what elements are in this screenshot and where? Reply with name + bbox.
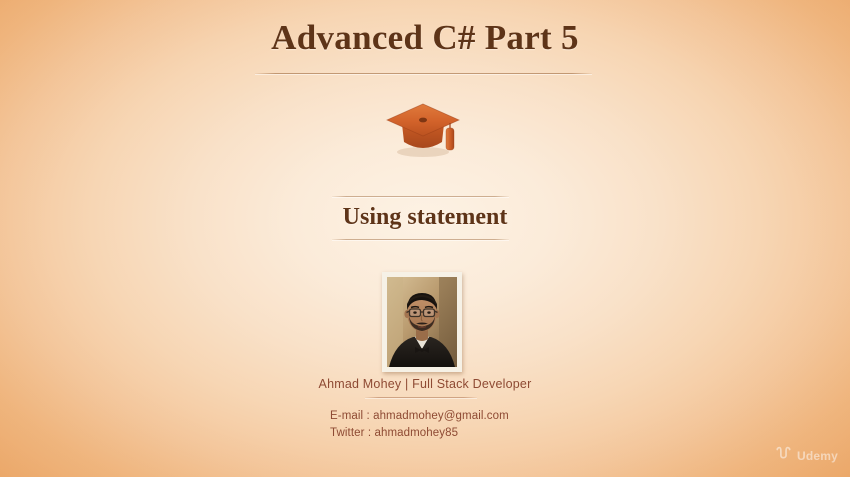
instructor-name-divider — [365, 397, 477, 398]
subtitle: Using statement — [0, 204, 850, 231]
subtitle-divider-top — [332, 196, 509, 197]
portrait-photo — [387, 277, 457, 367]
subtitle-divider-bottom — [332, 239, 509, 240]
instructor-portrait — [382, 272, 462, 372]
udemy-logo-icon — [775, 445, 792, 467]
slide-canvas: Advanced C# Part 5 — [0, 0, 850, 477]
graduation-cap-icon — [383, 98, 463, 166]
contact-twitter: Twitter : ahmadmohey85 — [330, 425, 509, 442]
contact-email: E-mail : ahmadmohey@gmail.com — [330, 408, 509, 425]
udemy-watermark: Udemy — [775, 445, 838, 467]
instructor-name: Ahmad Mohey | Full Stack Developer — [0, 377, 850, 391]
title-divider — [255, 73, 592, 74]
contact-info: E-mail : ahmadmohey@gmail.com Twitter : … — [330, 408, 509, 442]
udemy-label: Udemy — [797, 449, 838, 463]
page-title: Advanced C# Part 5 — [0, 18, 850, 58]
